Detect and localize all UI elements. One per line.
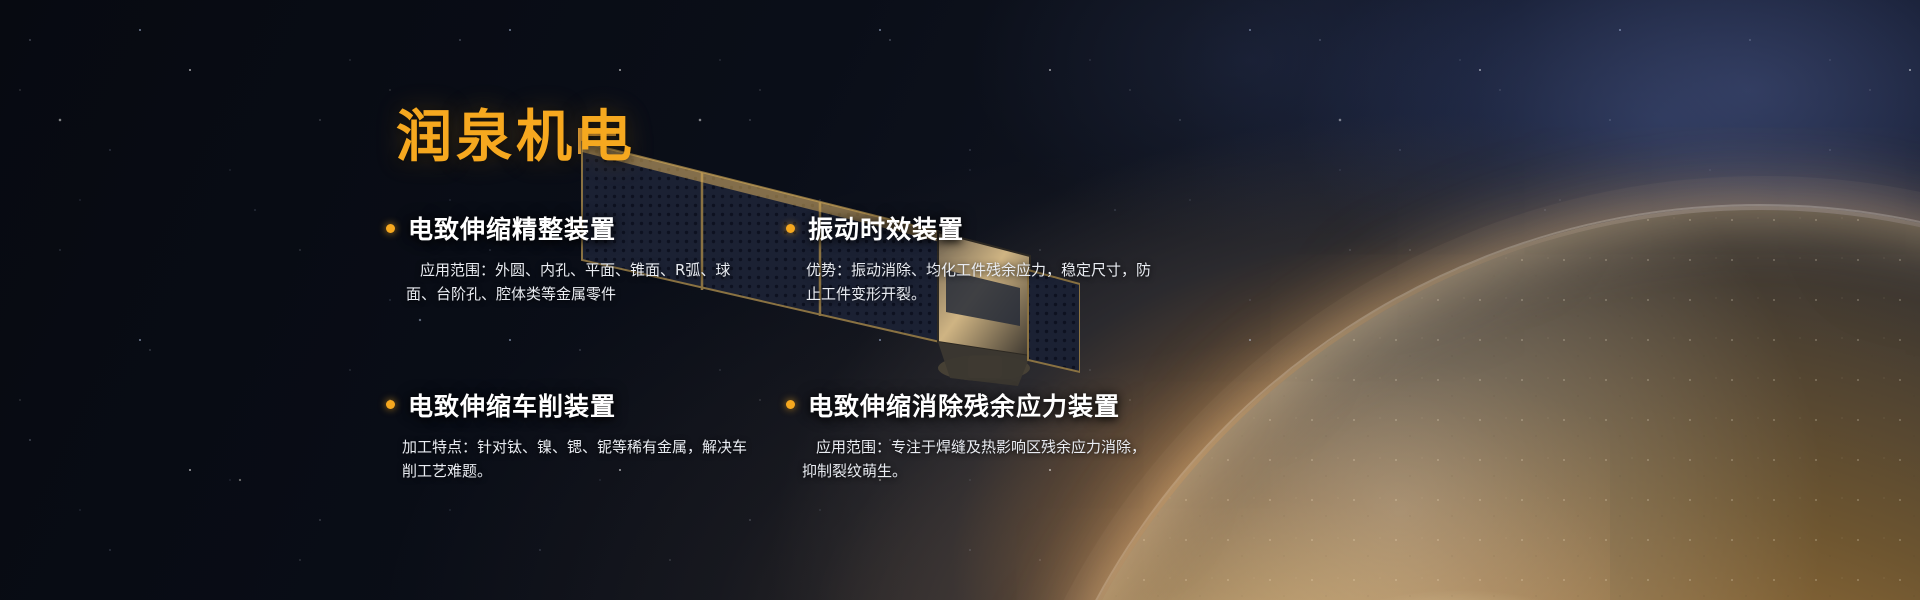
feature-description: 应用范围：专注于焊缝及热影响区残余应力消除，抑制裂纹萌生。: [802, 435, 1150, 484]
bullet-dot-icon: [386, 224, 395, 233]
feature-grid: 电致伸缩精整装置 应用范围：外圆、内孔、平面、锥面、R弧、球面、台阶孔、腔体类等…: [386, 210, 1186, 495]
bullet-dot-icon: [786, 400, 795, 409]
feature-item[interactable]: 电致伸缩消除残余应力装置 应用范围：专注于焊缝及热影响区残余应力消除，抑制裂纹萌…: [786, 387, 1186, 484]
feature-title: 电致伸缩车削装置: [408, 387, 616, 423]
feature-cell-1: 电致伸缩精整装置 应用范围：外圆、内孔、平面、锥面、R弧、球面、台阶孔、腔体类等…: [386, 210, 786, 319]
feature-heading: 电致伸缩消除残余应力装置: [786, 387, 1186, 423]
feature-cell-2: 振动时效装置 优势：振动消除、均化工件残余应力，稳定尺寸，防止工件变形开裂。: [786, 210, 1186, 319]
banner-content: 润泉机电 电致伸缩精整装置 应用范围：外圆、内孔、平面、锥面、R弧、球面、台阶孔…: [0, 0, 1920, 600]
feature-item[interactable]: 电致伸缩精整装置 应用范围：外圆、内孔、平面、锥面、R弧、球面、台阶孔、腔体类等…: [386, 210, 786, 307]
feature-cell-4: 电致伸缩消除残余应力装置 应用范围：专注于焊缝及热影响区残余应力消除，抑制裂纹萌…: [786, 387, 1186, 496]
feature-row-bottom: 电致伸缩车削装置 加工特点：针对钛、镍、锶、铌等稀有金属，解决车削工艺难题。 电…: [386, 387, 1186, 496]
feature-title: 电致伸缩精整装置: [408, 210, 616, 246]
feature-item[interactable]: 振动时效装置 优势：振动消除、均化工件残余应力，稳定尺寸，防止工件变形开裂。: [786, 210, 1186, 307]
feature-description: 加工特点：针对钛、镍、锶、铌等稀有金属，解决车削工艺难题。: [402, 435, 750, 484]
feature-title: 电致伸缩消除残余应力装置: [808, 387, 1120, 423]
feature-row-top: 电致伸缩精整装置 应用范围：外圆、内孔、平面、锥面、R弧、球面、台阶孔、腔体类等…: [386, 210, 1186, 319]
feature-description: 应用范围：外圆、内孔、平面、锥面、R弧、球面、台阶孔、腔体类等金属零件: [406, 258, 754, 307]
bullet-dot-icon: [786, 224, 795, 233]
feature-cell-3: 电致伸缩车削装置 加工特点：针对钛、镍、锶、铌等稀有金属，解决车削工艺难题。: [386, 387, 786, 496]
brand-title: 润泉机电: [396, 92, 636, 173]
feature-description: 优势：振动消除、均化工件残余应力，稳定尺寸，防止工件变形开裂。: [806, 258, 1154, 307]
feature-heading: 振动时效装置: [786, 210, 1186, 246]
bullet-dot-icon: [386, 400, 395, 409]
feature-item[interactable]: 电致伸缩车削装置 加工特点：针对钛、镍、锶、铌等稀有金属，解决车削工艺难题。: [386, 387, 786, 484]
row-spacer: [386, 319, 1186, 387]
hero-banner: 润泉机电 电致伸缩精整装置 应用范围：外圆、内孔、平面、锥面、R弧、球面、台阶孔…: [0, 0, 1920, 600]
feature-heading: 电致伸缩精整装置: [386, 210, 786, 246]
feature-heading: 电致伸缩车削装置: [386, 387, 786, 423]
feature-title: 振动时效装置: [808, 210, 964, 246]
